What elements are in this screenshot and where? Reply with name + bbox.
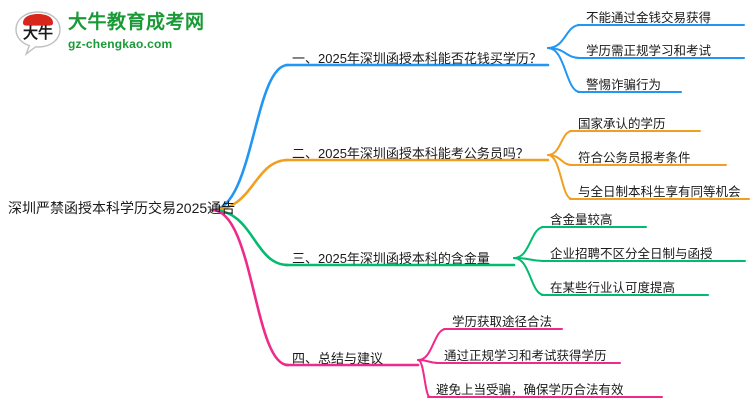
leaf-connector-1-1 xyxy=(548,25,580,48)
leaf-label-1-2[interactable]: 学历需正规学习和考试 xyxy=(586,45,711,58)
leaf-connector-4-3 xyxy=(418,360,430,397)
leaf-connector-3-3 xyxy=(514,258,544,295)
leaf-label-3-2[interactable]: 企业招聘不区分全日制与函授 xyxy=(550,248,713,261)
leaf-connector-1-3 xyxy=(548,48,580,92)
leaf-label-1-3[interactable]: 警惕诈骗行为 xyxy=(586,79,661,92)
mindmap-canvas: 深圳严禁函授本科学历交易2025通告 一、2025年深圳函授本科能否花钱买学历？… xyxy=(0,0,750,410)
branch-trunk-3 xyxy=(212,210,288,265)
leaf-label-2-2[interactable]: 符合公务员报考条件 xyxy=(578,152,691,165)
leaf-label-1-1[interactable]: 不能通过金钱交易获得 xyxy=(586,12,711,25)
leaf-label-2-1[interactable]: 国家承认的学历 xyxy=(578,118,666,131)
leaf-connector-4-1 xyxy=(418,329,446,360)
leaf-connector-3-1 xyxy=(514,227,544,258)
branch-label-3[interactable]: 三、2025年深圳函授本科的含金量 xyxy=(292,252,490,265)
leaf-label-2-3[interactable]: 与全日制本科生享有同等机会 xyxy=(578,186,741,199)
leaf-label-3-3[interactable]: 在某些行业认可度提高 xyxy=(550,282,675,295)
leaf-label-4-1[interactable]: 学历获取途径合法 xyxy=(452,316,552,329)
leaf-connector-2-3 xyxy=(548,155,572,199)
mindmap-root-node[interactable]: 深圳严禁函授本科学历交易2025通告 xyxy=(8,201,235,215)
leaf-label-4-3[interactable]: 避免上当受骗，确保学历合法有效 xyxy=(436,384,624,397)
branch-label-1[interactable]: 一、2025年深圳函授本科能否花钱买学历？ xyxy=(292,52,542,65)
leaf-connector-2-1 xyxy=(548,131,572,155)
branch-label-2[interactable]: 二、2025年深圳函授本科能考公务员吗？ xyxy=(292,147,529,160)
leaf-label-4-2[interactable]: 通过正规学习和考试获得学历 xyxy=(444,350,607,363)
leaf-label-3-1[interactable]: 含金量较高 xyxy=(550,214,613,227)
branch-label-4[interactable]: 四、总结与建议 xyxy=(292,352,383,365)
